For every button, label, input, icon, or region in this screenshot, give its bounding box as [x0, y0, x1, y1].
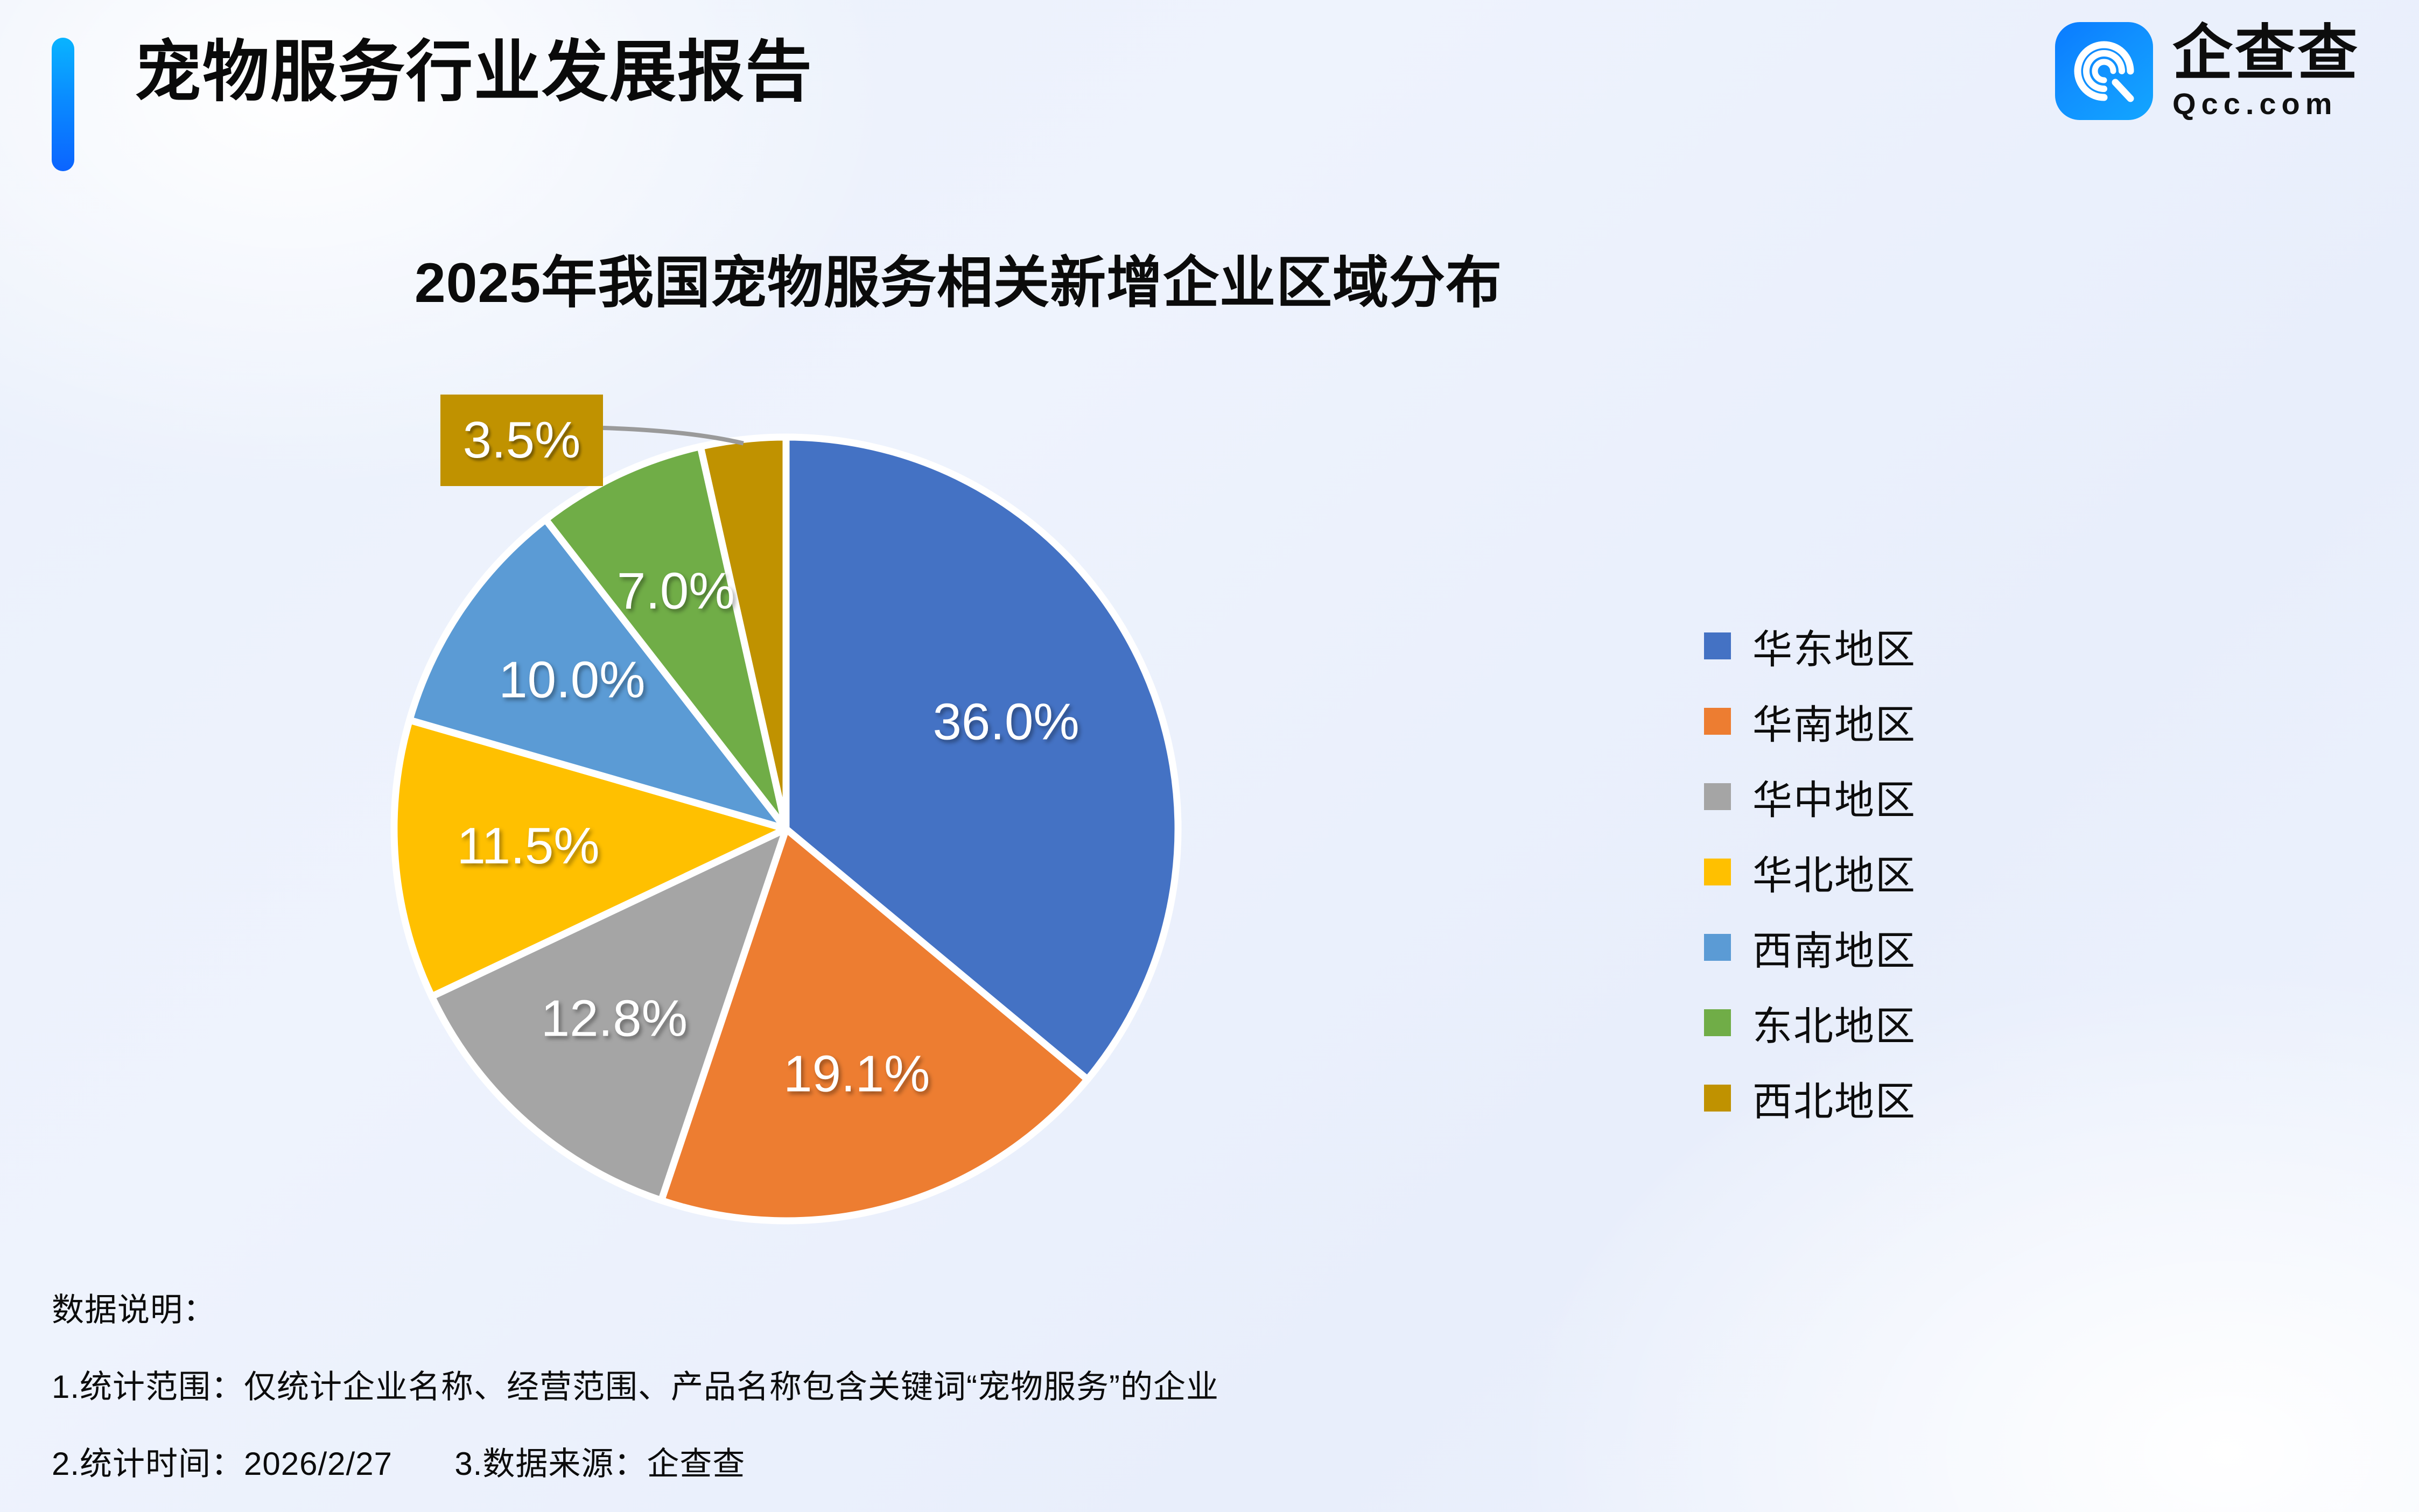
brand-name-cn: 企查查: [2172, 22, 2360, 85]
footer-notes: 数据说明： 1.统计范围：仅统计企业名称、经营范围、产品名称包含关键词“宠物服务…: [52, 1284, 1990, 1485]
chart-legend: 华东地区华南地区华中地区华北地区西南地区东北地区西北地区: [1704, 608, 1916, 1136]
page-title: 宠物服务行业发展报告: [135, 39, 813, 106]
legend-item: 西北地区: [1704, 1060, 1916, 1136]
brand-text: 企查查 Qcc.com: [2172, 22, 2360, 120]
pie-slice: [432, 829, 786, 1200]
legend-color-swatch: [1704, 632, 1731, 659]
footer-note-time-source: 2.统计时间：2026/2/27 3.数据来源：企查查: [52, 1438, 1990, 1485]
legend-item: 华中地区: [1704, 759, 1916, 834]
pie-slice: [545, 447, 786, 829]
title-accent-bar: [52, 38, 74, 171]
footer-note-scope: 1.统计范围：仅统计企业名称、经营范围、产品名称包含关键词“宠物服务”的企业: [52, 1361, 1990, 1408]
callout-label-text: 3.5%: [463, 411, 581, 470]
legend-item-label: 华北地区: [1752, 843, 1916, 901]
pie-slice-value-label: 36.0%: [933, 693, 1079, 751]
legend-item-label: 东北地区: [1752, 994, 1916, 1052]
qcc-spiral-q-icon: [2055, 22, 2153, 120]
legend-item-label: 西南地区: [1752, 919, 1916, 976]
pie-slice-value-label: 10.0%: [499, 651, 645, 709]
callout-label-box: 3.5%: [440, 395, 603, 486]
legend-item: 东北地区: [1704, 985, 1916, 1060]
legend-color-swatch: [1704, 1085, 1731, 1112]
callout-leader-line: [603, 428, 744, 444]
pie-slice-value-label: 7.0%: [617, 562, 735, 620]
pie-slice-value-label: 11.5%: [457, 817, 600, 875]
pie-slice-value-label: 19.1%: [783, 1045, 930, 1103]
legend-item-label: 华东地区: [1752, 617, 1916, 675]
pie-slice-value-label: 12.8%: [541, 990, 688, 1047]
footer-heading: 数据说明：: [52, 1284, 1990, 1331]
legend-color-swatch: [1704, 783, 1731, 810]
pie-slice: [394, 720, 786, 996]
callout-leader-path: [603, 428, 744, 444]
pie-slice-labels: 36.0%19.1%12.8%11.5%10.0%7.0%: [457, 562, 1079, 1103]
legend-item: 西南地区: [1704, 910, 1916, 985]
legend-item-label: 华中地区: [1752, 768, 1916, 826]
footer-note-source: 3.数据来源：企查查: [454, 1438, 745, 1485]
legend-item: 华东地区: [1704, 608, 1916, 684]
pie-slice: [410, 519, 786, 829]
chart-title: 2025年我国宠物服务相关新增企业区域分布: [0, 237, 1917, 318]
legend-item: 华北地区: [1704, 834, 1916, 910]
pie-slice: [700, 437, 786, 829]
legend-item-label: 华南地区: [1752, 693, 1916, 750]
brand-name-en: Qcc.com: [2172, 87, 2360, 121]
brand-logo: 企查查 Qcc.com: [2055, 22, 2360, 120]
legend-color-swatch: [1704, 859, 1731, 885]
footer-note-time: 2.统计时间：2026/2/27: [52, 1438, 392, 1485]
legend-color-swatch: [1704, 1009, 1731, 1036]
pie-slices: [394, 437, 1178, 1221]
pie-slice: [786, 437, 1178, 1079]
legend-color-swatch: [1704, 934, 1731, 961]
page-header: 宠物服务行业发展报告 企查查 Qcc.com: [0, 0, 2419, 194]
legend-item-label: 西北地区: [1752, 1070, 1916, 1127]
legend-item: 华南地区: [1704, 684, 1916, 759]
pie-slice: [661, 829, 1088, 1221]
legend-color-swatch: [1704, 708, 1731, 735]
